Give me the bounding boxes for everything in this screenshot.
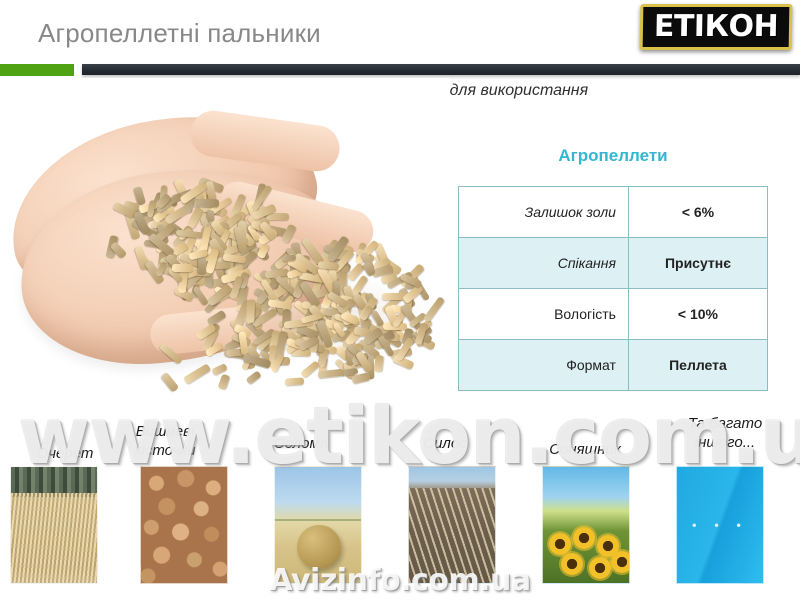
spec-value: Присутнє <box>628 238 767 289</box>
logo-text: ЕТІКОН <box>654 12 779 42</box>
sunflower-head <box>589 557 611 579</box>
hay-bale <box>297 525 341 569</box>
table-row: Спікання Присутнє <box>459 238 768 289</box>
thumbnail-straw <box>274 466 362 584</box>
source-label-silage: Силос <box>390 434 500 453</box>
thumbnail-more: • • • <box>676 466 764 584</box>
spec-key: Формат <box>459 340 629 391</box>
spec-value: < 10% <box>628 289 767 340</box>
sunflower-head <box>549 533 571 555</box>
thumbnail-silage <box>408 466 496 584</box>
source-label-sunflower: Соняшник <box>520 440 650 459</box>
hand-with-pellets-photo <box>0 78 450 396</box>
slide-header: Агропеллетні пальники ЕТІКОН <box>0 0 800 66</box>
spec-table: Залишок золи < 6% Спікання Присутнє Воло… <box>458 186 768 391</box>
spec-key: Вологість <box>459 289 629 340</box>
wood-pellet <box>217 373 229 390</box>
pellet-pile <box>0 78 450 396</box>
wood-pellet <box>161 372 179 392</box>
wood-pellet <box>183 363 211 384</box>
wood-pellet <box>245 370 261 385</box>
thumbnail-reed <box>10 466 98 584</box>
source-label-more: Та багато іншого... <box>660 414 790 452</box>
table-row: Формат Пеллета <box>459 340 768 391</box>
wood-pellet <box>198 257 206 275</box>
slide: Агропеллетні пальники ЕТІКОН Паливо для … <box>0 0 800 600</box>
horizon-line <box>275 519 361 521</box>
wood-pellet <box>197 199 219 207</box>
table-row: Залишок золи < 6% <box>459 187 768 238</box>
wood-pellet <box>318 261 340 270</box>
dark-divider-bar <box>82 64 800 75</box>
wood-pellet <box>374 355 384 373</box>
thumbnail-sunflower <box>542 466 630 584</box>
spec-key: Спікання <box>459 238 629 289</box>
spec-key: Залишок золи <box>459 187 629 238</box>
wood-pellet <box>280 224 296 244</box>
spec-table-heading: Агропеллети <box>458 146 768 166</box>
sunflower-head <box>611 551 630 573</box>
wood-pellet <box>247 299 256 323</box>
ellipsis-dots: • • • <box>677 518 763 533</box>
etikon-logo: ЕТІКОН <box>640 4 793 50</box>
thumbnail-cherry-pits <box>140 466 228 584</box>
wood-pellet <box>300 361 319 379</box>
sunflower-head <box>573 527 595 549</box>
fuel-sources-strip: Очерет Вишневі кісточки Солома Силос Сон… <box>0 402 800 600</box>
sunflower-head <box>561 553 583 575</box>
wood-pellet <box>285 377 304 386</box>
wood-pellet <box>159 343 183 365</box>
wood-pellet <box>172 264 193 272</box>
source-label-cherrypits: Вишневі кісточки <box>100 422 230 460</box>
page-title: Агропеллетні пальники <box>38 18 321 49</box>
green-accent-bar <box>0 64 74 76</box>
table-row: Вологість < 10% <box>459 289 768 340</box>
spec-value: Пеллета <box>628 340 767 391</box>
spec-value: < 6% <box>628 187 767 238</box>
wood-pellet <box>318 369 345 379</box>
source-label-straw: Солома <box>246 434 356 453</box>
